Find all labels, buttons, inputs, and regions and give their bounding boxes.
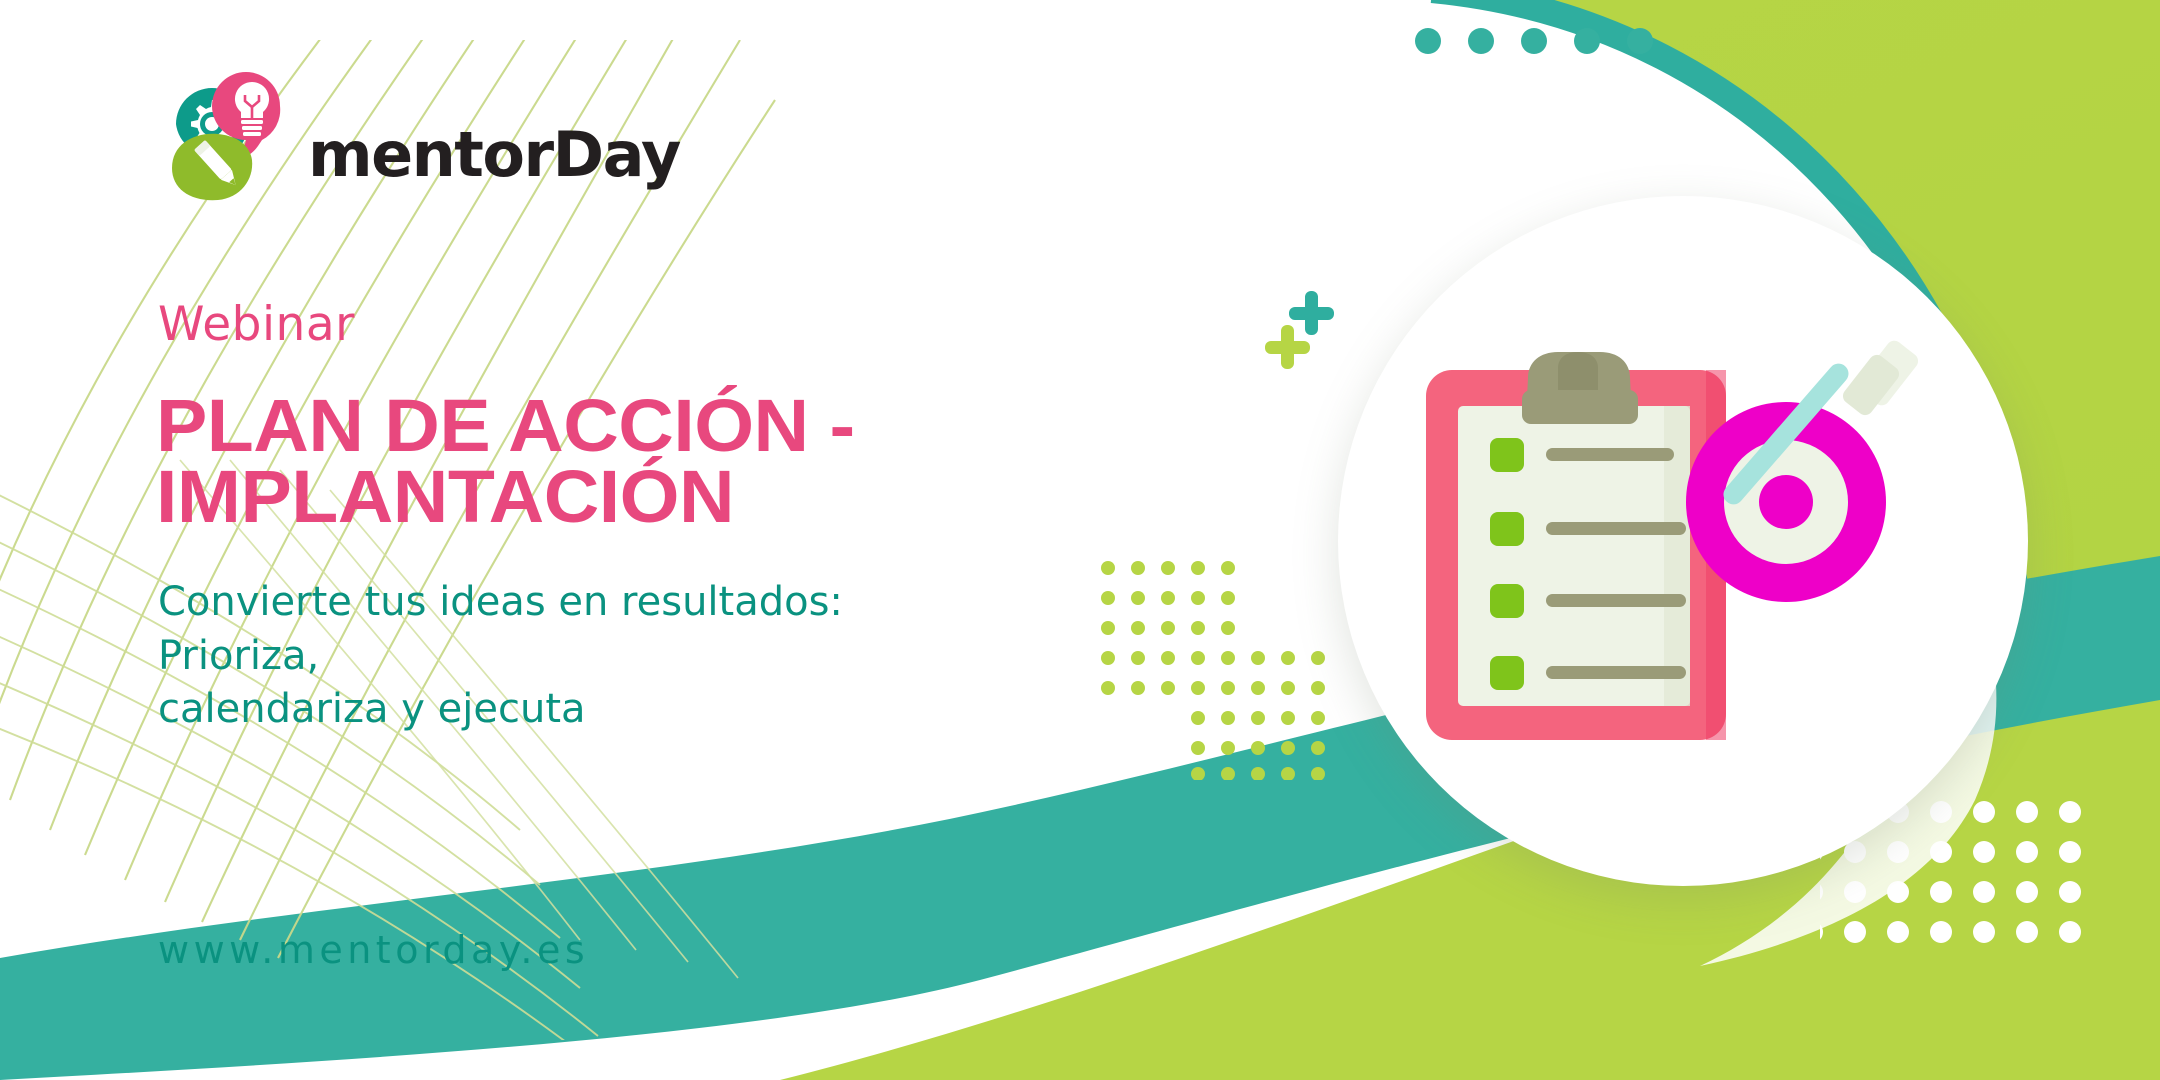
title-line-1: PLAN DE ACCIÓN - [156, 390, 1092, 461]
clipboard-icon [1426, 370, 1726, 740]
clipboard-clip-icon [1522, 352, 1638, 424]
plus-marks [1255, 285, 1365, 380]
plus-teal-icon [1289, 291, 1334, 335]
top-dot-row [1415, 28, 1653, 54]
dot [1415, 28, 1441, 54]
logo-mark [160, 72, 310, 202]
subtitle-line-2: calendariza y ejecuta [158, 683, 978, 737]
pencil-leaf-icon [172, 134, 252, 200]
eyebrow-label: Webinar [158, 297, 355, 352]
website-url[interactable]: www.mentorday.es [158, 928, 589, 972]
plus-green-icon [1265, 325, 1310, 369]
clipboard-checklist-illustration [1418, 330, 1958, 770]
dot [1468, 28, 1494, 54]
page-title: PLAN DE ACCIÓN - IMPLANTACIÓN [156, 390, 1092, 532]
logo[interactable]: mentorDay [160, 72, 590, 202]
dot [1521, 28, 1547, 54]
dot [1627, 28, 1653, 54]
subtitle: Convierte tus ideas en resultados: Prior… [158, 576, 978, 737]
poster-canvas: mentorDay Webinar PLAN DE ACCIÓN - IMPLA… [0, 0, 2160, 1080]
dot [1574, 28, 1600, 54]
title-line-2: IMPLANTACIÓN [156, 461, 1092, 532]
logo-wordmark: mentorDay [308, 118, 680, 191]
subtitle-line-1: Convierte tus ideas en resultados: Prior… [158, 576, 978, 683]
green-dot-pattern [1100, 560, 1360, 780]
